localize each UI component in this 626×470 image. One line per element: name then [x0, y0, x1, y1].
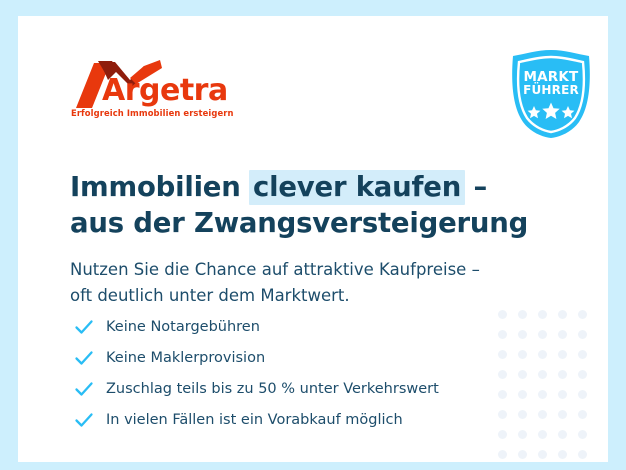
- promo-banner: Argetra Erfolgreich Immobilien ersteiger…: [0, 0, 626, 470]
- list-item: Zuschlag teils bis zu 50 % unter Verkehr…: [74, 376, 544, 402]
- grid-dot: [578, 330, 587, 339]
- grid-dot: [578, 410, 587, 419]
- shield-badge-icon: [505, 48, 597, 140]
- grid-dot: [578, 310, 587, 319]
- check-icon: [74, 379, 94, 399]
- check-icon: [74, 317, 94, 337]
- check-icon: [74, 410, 94, 430]
- grid-dot: [578, 370, 587, 379]
- argetra-logo[interactable]: Argetra Erfolgreich Immobilien ersteiger…: [70, 58, 270, 128]
- subheadline: Nutzen Sie die Chance auf attraktive Kau…: [70, 257, 590, 310]
- grid-dot: [558, 430, 567, 439]
- grid-dot: [518, 450, 527, 459]
- logo-wordmark: Argetra: [102, 76, 228, 106]
- logo-tagline: Erfolgreich Immobilien ersteigern: [71, 108, 234, 118]
- list-item: Keine Maklerprovision: [74, 345, 544, 371]
- list-item: In vielen Fällen ist ein Vorabkauf mögli…: [74, 407, 544, 433]
- list-item-label: Keine Notargebühren: [106, 319, 260, 335]
- headline-line-1: Immobilien clever kaufen –: [70, 170, 590, 205]
- banner-card: Argetra Erfolgreich Immobilien ersteiger…: [18, 16, 608, 462]
- headline-highlight: clever kaufen: [249, 170, 465, 205]
- headline: Immobilien clever kaufen – aus der Zwang…: [70, 170, 590, 240]
- grid-dot: [578, 390, 587, 399]
- list-item-label: In vielen Fällen ist ein Vorabkauf mögli…: [106, 412, 403, 428]
- grid-dot: [558, 310, 567, 319]
- grid-dot: [558, 450, 567, 459]
- grid-dot: [558, 330, 567, 339]
- list-item-label: Keine Maklerprovision: [106, 350, 265, 366]
- grid-dot: [538, 450, 547, 459]
- subheadline-line-1: Nutzen Sie die Chance auf attraktive Kau…: [70, 257, 590, 284]
- grid-dot: [578, 450, 587, 459]
- subheadline-line-2: oft deutlich unter dem Marktwert.: [70, 283, 590, 310]
- grid-dot: [578, 350, 587, 359]
- benefits-checklist: Keine Notargebühren Keine Maklerprovisio…: [74, 314, 544, 438]
- market-leader-badge: MARKT FÜHRER: [505, 48, 597, 140]
- grid-dot: [578, 430, 587, 439]
- list-item: Keine Notargebühren: [74, 314, 544, 340]
- grid-dot: [558, 390, 567, 399]
- headline-text-before: Immobilien: [70, 171, 250, 203]
- list-item-label: Zuschlag teils bis zu 50 % unter Verkehr…: [106, 381, 439, 397]
- grid-dot: [558, 350, 567, 359]
- grid-dot: [558, 410, 567, 419]
- headline-line-2: aus der Zwangsversteigerung: [70, 206, 590, 241]
- check-icon: [74, 348, 94, 368]
- grid-dot: [498, 450, 507, 459]
- headline-text-after: –: [464, 171, 487, 203]
- grid-dot: [558, 370, 567, 379]
